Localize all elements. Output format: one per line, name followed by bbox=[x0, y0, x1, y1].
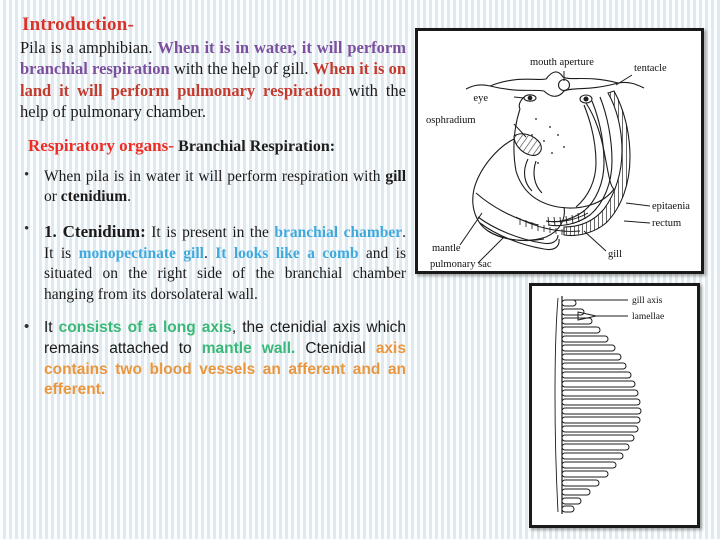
b1-ctenidium: ctenidium bbox=[61, 188, 127, 205]
b1-gill: gill bbox=[385, 168, 406, 185]
label-mantle: mantle bbox=[432, 243, 461, 254]
label-lamellae: lamellae bbox=[632, 312, 664, 322]
b2-looks-like-comb: It looks like a comb bbox=[215, 245, 358, 262]
b3-seg-1: It bbox=[44, 319, 59, 336]
gill-lamellae bbox=[562, 300, 641, 512]
bullet-list: When pila is in water it will perform re… bbox=[18, 167, 406, 401]
anatomy-outlines bbox=[466, 72, 644, 250]
b1-seg-3: . bbox=[127, 188, 131, 205]
intro-seg-plain-1: Pila is a amphibian. bbox=[20, 38, 157, 57]
b3-mantle-wall: mantle wall. bbox=[202, 340, 296, 357]
label-rectum: rectum bbox=[652, 218, 681, 229]
b1-seg-1: When pila is in water it will perform re… bbox=[44, 168, 385, 185]
label-osphradium: osphradium bbox=[426, 115, 476, 126]
label-tentacle: tentacle bbox=[634, 63, 667, 74]
bullet-gill-or-ctenidium: When pila is in water it will perform re… bbox=[18, 167, 406, 208]
text-column: Introduction- Pila is a amphibian. When … bbox=[18, 14, 406, 414]
label-epitaenia: epitaenia bbox=[652, 201, 690, 212]
b3-long-axis: consists of a long axis bbox=[59, 319, 232, 336]
b2-branchial-chamber: branchial chamber bbox=[274, 224, 402, 241]
heading-branchial-respiration: Branchial Respiration: bbox=[178, 138, 335, 155]
label-gill-axis: gill axis bbox=[632, 296, 663, 306]
anatomy-labels: mouth aperture tentacle eye osphradium e… bbox=[426, 57, 690, 270]
b2-title: 1. Ctenidium: bbox=[44, 222, 146, 241]
heading-respiratory-organs: Respiratory organs- Branchial Respiratio… bbox=[28, 136, 406, 156]
b3-seg-3: Ctenidial bbox=[295, 340, 375, 357]
bullet-ctenidial-axis: It consists of a long axis, the ctenidia… bbox=[18, 318, 406, 400]
gill-diagram-frame: gill axis lamellae bbox=[529, 283, 700, 528]
intro-paragraph: Pila is a amphibian. When it is in water… bbox=[20, 37, 406, 123]
anatomy-diagram-frame: mouth aperture tentacle eye osphradium e… bbox=[415, 28, 704, 274]
b1-seg-2: or bbox=[44, 188, 61, 205]
b2-seg-1: It is present in the bbox=[146, 224, 275, 241]
label-pulmonary-sac: pulmonary sac bbox=[430, 259, 492, 270]
label-eye: eye bbox=[473, 93, 488, 104]
heading-introduction: Introduction- bbox=[22, 14, 406, 36]
label-gill: gill bbox=[608, 249, 622, 260]
b2-seg-3: . bbox=[204, 245, 215, 262]
heading-respiratory-red: Respiratory organs- bbox=[28, 136, 174, 155]
intro-seg-plain-2: with the help of gill. bbox=[170, 59, 313, 78]
slide-canvas: Introduction- Pila is a amphibian. When … bbox=[0, 0, 720, 539]
gill-labels: gill axis lamellae bbox=[632, 296, 664, 322]
gill-axis-line bbox=[555, 296, 562, 514]
label-mouth-aperture: mouth aperture bbox=[530, 57, 594, 68]
bullet-ctenidium: 1. Ctenidium: It is present in the branc… bbox=[18, 221, 406, 305]
b2-monopectinate-gill: monopectinate gill bbox=[79, 245, 204, 262]
